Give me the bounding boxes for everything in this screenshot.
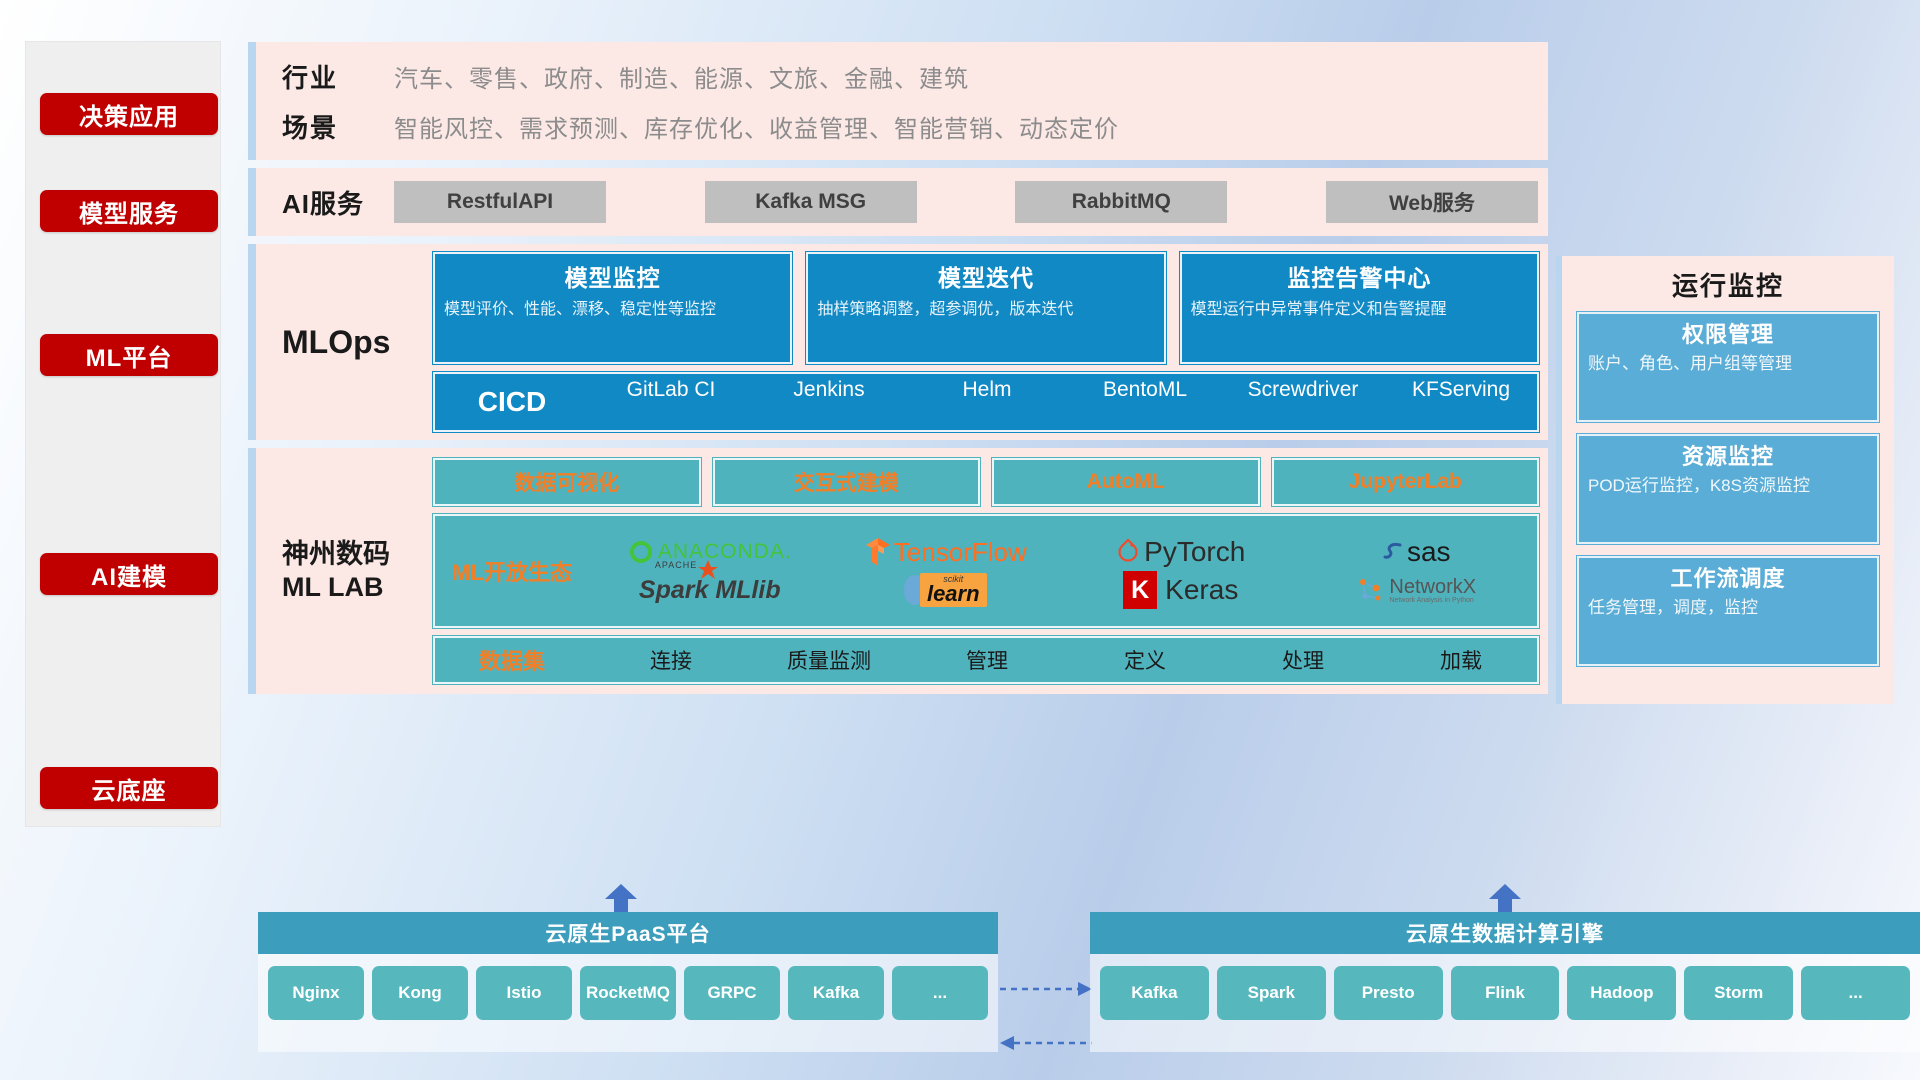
paas-chip-istio[interactable]: Istio xyxy=(476,966,572,1020)
card-title: 监控告警中心 xyxy=(1191,259,1528,293)
card-title: 模型监控 xyxy=(444,259,781,293)
engine-chip-hadoop[interactable]: Hadoop xyxy=(1567,966,1676,1020)
dataset-item-processing[interactable]: 处理 xyxy=(1224,645,1382,675)
compute-engine-chip-list: Kafka Spark Presto Flink Hadoop Storm ..… xyxy=(1090,954,1920,1032)
spark-mllib-logo: APACHE Spark MLlib xyxy=(639,576,781,605)
networkx-logo-text: NetworkX xyxy=(1389,577,1476,597)
paas-chip-grpc[interactable]: GRPC xyxy=(684,966,780,1020)
rail-label: ML平台 xyxy=(86,338,173,373)
lab-tool-data-visualization[interactable]: 数据可视化 xyxy=(432,457,702,507)
mlops-band: MLOps 模型监控 模型评价、性能、漂移、稳定性等监控 模型迭代 抽样策略调整… xyxy=(248,244,1548,440)
rail-item-decision-app[interactable]: 决策应用 xyxy=(40,93,218,135)
ml-open-ecosystem-label: ML开放生态 xyxy=(432,555,592,587)
spark-apache-sublabel: APACHE xyxy=(655,560,697,570)
rail-item-cloud-base[interactable]: 云底座 xyxy=(40,767,218,809)
tensorflow-logo-text: TensorFlow xyxy=(894,537,1027,568)
paas-chip-more[interactable]: ... xyxy=(892,966,988,1020)
mlops-content: 模型监控 模型评价、性能、漂移、稳定性等监控 模型迭代 抽样策略调整，超参调优，… xyxy=(432,251,1548,433)
mlops-card-model-monitoring[interactable]: 模型监控 模型评价、性能、漂移、稳定性等监控 xyxy=(432,251,793,365)
tensorflow-logo: TensorFlow xyxy=(864,537,1027,568)
rail-label: 模型服务 xyxy=(79,194,179,229)
card-title: 权限管理 xyxy=(1588,317,1868,349)
paas-chip-kong[interactable]: Kong xyxy=(372,966,468,1020)
ai-service-band: AI服务 RestfulAPI Kafka MSG RabbitMQ Web服务 xyxy=(248,168,1548,236)
cicd-item-kfserving[interactable]: KFServing xyxy=(1382,376,1540,428)
ai-service-label: AI服务 xyxy=(282,184,394,221)
ecosystem-logo-grid: ANACONDA. TensorFlow PyTorch xyxy=(592,533,1540,609)
cicd-item-helm[interactable]: Helm xyxy=(908,376,1066,428)
card-title: 工作流调度 xyxy=(1588,561,1868,593)
dashed-arrow-left-icon xyxy=(1000,1036,1092,1050)
mlops-card-alert-center[interactable]: 监控告警中心 模型运行中异常事件定义和告警提醒 xyxy=(1179,251,1540,365)
engine-chip-presto[interactable]: Presto xyxy=(1334,966,1443,1020)
service-chip-kafka-msg[interactable]: Kafka MSG xyxy=(705,181,917,223)
scenario-label: 场景 xyxy=(282,108,394,145)
card-title: 资源监控 xyxy=(1588,439,1868,471)
cloud-native-data-compute-engine: 云原生数据计算引擎 Kafka Spark Presto Flink Hadoo… xyxy=(1090,912,1920,1052)
service-chip-restfulapi[interactable]: RestfulAPI xyxy=(394,181,606,223)
ml-lab-label: 神州数码 ML LAB xyxy=(282,538,432,605)
card-desc: 模型运行中异常事件定义和告警提醒 xyxy=(1191,299,1528,321)
monitor-card-permission-management[interactable]: 权限管理 账户、角色、用户组等管理 xyxy=(1576,311,1880,423)
cicd-item-screwdriver[interactable]: Screwdriver xyxy=(1224,376,1382,428)
paas-chip-rocketmq[interactable]: RocketMQ xyxy=(580,966,676,1020)
ml-lab-content: 数据可视化 交互式建模 AutoML JupyterLab ML开放生态 ANA… xyxy=(432,457,1548,685)
engine-chip-kafka[interactable]: Kafka xyxy=(1100,966,1209,1020)
cicd-item-bentoml[interactable]: BentoML xyxy=(1066,376,1224,428)
ml-lab-band: 神州数码 ML LAB 数据可视化 交互式建模 AutoML JupyterLa… xyxy=(248,448,1548,694)
scikit-learn-logo-text: learn xyxy=(927,584,980,604)
runtime-monitoring-title: 运行监控 xyxy=(1576,266,1880,303)
runtime-monitoring-column: 运行监控 权限管理 账户、角色、用户组等管理 资源监控 POD运行监控，K8S资… xyxy=(1556,256,1894,704)
monitor-card-workflow-scheduling[interactable]: 工作流调度 任务管理，调度，监控 xyxy=(1576,555,1880,667)
lab-tool-jupyterlab[interactable]: JupyterLab xyxy=(1271,457,1541,507)
cicd-item-list: GitLab CI Jenkins Helm BentoML Screwdriv… xyxy=(592,376,1540,428)
card-title: 模型迭代 xyxy=(817,259,1154,293)
paas-chip-list: Nginx Kong Istio RocketMQ GRPC Kafka ... xyxy=(258,954,998,1032)
dashed-arrow-right-icon xyxy=(1000,982,1092,996)
cicd-title: CICD xyxy=(432,386,592,418)
networkx-logo: NetworkX Network Analysis in Python xyxy=(1356,576,1476,604)
card-desc: 抽样策略调整，超参调优，版本迭代 xyxy=(817,299,1154,321)
industry-row: 行业 汽车、零售、政府、制造、能源、文旅、金融、建筑 xyxy=(282,51,1548,101)
dataset-bar: 数据集 连接 质量监测 管理 定义 处理 加载 xyxy=(432,635,1540,685)
cicd-bar: CICD GitLab CI Jenkins Helm BentoML Scre… xyxy=(432,371,1540,433)
paas-chip-kafka[interactable]: Kafka xyxy=(788,966,884,1020)
dataset-item-quality-monitoring[interactable]: 质量监测 xyxy=(750,645,908,675)
lab-tool-interactive-modeling[interactable]: 交互式建模 xyxy=(712,457,982,507)
keras-logo-text: Keras xyxy=(1165,574,1238,606)
engine-chip-storm[interactable]: Storm xyxy=(1684,966,1793,1020)
dataset-item-connect[interactable]: 连接 xyxy=(592,645,750,675)
paas-chip-nginx[interactable]: Nginx xyxy=(268,966,364,1020)
mlops-card-list: 模型监控 模型评价、性能、漂移、稳定性等监控 模型迭代 抽样策略调整，超参调优，… xyxy=(432,251,1540,365)
lab-tool-automl[interactable]: AutoML xyxy=(991,457,1261,507)
networkx-sublabel: Network Analysis in Python xyxy=(1389,597,1476,604)
dataset-item-list: 连接 质量监测 管理 定义 处理 加载 xyxy=(592,645,1540,675)
dataset-item-management[interactable]: 管理 xyxy=(908,645,1066,675)
mlops-card-model-iteration[interactable]: 模型迭代 抽样策略调整，超参调优，版本迭代 xyxy=(805,251,1166,365)
industry-values: 汽车、零售、政府、制造、能源、文旅、金融、建筑 xyxy=(394,59,969,94)
rail-label: 决策应用 xyxy=(79,97,179,132)
engine-chip-spark[interactable]: Spark xyxy=(1217,966,1326,1020)
keras-logo: K Keras xyxy=(1123,571,1238,609)
architecture-main-stack: 行业 汽车、零售、政府、制造、能源、文旅、金融、建筑 场景 智能风控、需求预测、… xyxy=(248,42,1548,702)
decision-application-band: 行业 汽车、零售、政府、制造、能源、文旅、金融、建筑 场景 智能风控、需求预测、… xyxy=(248,42,1548,160)
paas-platform-title: 云原生PaaS平台 xyxy=(258,912,998,954)
industry-label: 行业 xyxy=(282,58,394,95)
dataset-item-definition[interactable]: 定义 xyxy=(1066,645,1224,675)
pytorch-logo: PyTorch xyxy=(1116,536,1245,568)
card-desc: 账户、角色、用户组等管理 xyxy=(1588,353,1868,376)
mlops-label: MLOps xyxy=(282,324,432,361)
sas-logo: sas xyxy=(1382,536,1451,568)
card-desc: 模型评价、性能、漂移、稳定性等监控 xyxy=(444,299,781,321)
spark-mllib-logo-text: Spark MLlib xyxy=(639,576,781,604)
ml-lab-label-line2: ML LAB xyxy=(282,571,432,604)
ml-lab-tool-list: 数据可视化 交互式建模 AutoML JupyterLab xyxy=(432,457,1540,507)
service-chip-web-service[interactable]: Web服务 xyxy=(1326,181,1538,223)
ai-service-chip-list: RestfulAPI Kafka MSG RabbitMQ Web服务 xyxy=(394,181,1548,223)
monitor-card-resource-monitoring[interactable]: 资源监控 POD运行监控，K8S资源监控 xyxy=(1576,433,1880,545)
card-desc: POD运行监控，K8S资源监控 xyxy=(1588,475,1868,498)
rail-item-ai-modeling[interactable]: AI建模 xyxy=(40,553,218,595)
ml-open-ecosystem-panel: ML开放生态 ANACONDA. TensorFlow xyxy=(432,513,1540,629)
scikit-learn-logo: scikit learn xyxy=(904,573,987,607)
cicd-item-gitlab-ci[interactable]: GitLab CI xyxy=(592,376,750,428)
scenario-values: 智能风控、需求预测、库存优化、收益管理、智能营销、动态定价 xyxy=(394,109,1119,144)
rail-item-ml-platform[interactable]: ML平台 xyxy=(40,334,218,376)
cicd-item-jenkins[interactable]: Jenkins xyxy=(750,376,908,428)
cloud-native-paas-platform: 云原生PaaS平台 Nginx Kong Istio RocketMQ GRPC… xyxy=(258,912,998,1052)
pytorch-logo-text: PyTorch xyxy=(1144,536,1245,568)
left-layer-rail: 决策应用 模型服务 ML平台 AI建模 云底座 xyxy=(26,42,220,826)
rail-label: 云底座 xyxy=(92,771,167,806)
dataset-item-loading[interactable]: 加载 xyxy=(1382,645,1540,675)
sas-logo-text: sas xyxy=(1407,536,1451,568)
dataset-label: 数据集 xyxy=(432,644,592,676)
compute-engine-title: 云原生数据计算引擎 xyxy=(1090,912,1920,954)
card-desc: 任务管理，调度，监控 xyxy=(1588,597,1868,620)
engine-chip-flink[interactable]: Flink xyxy=(1451,966,1560,1020)
keras-mark: K xyxy=(1123,571,1157,609)
scenario-row: 场景 智能风控、需求预测、库存优化、收益管理、智能营销、动态定价 xyxy=(282,101,1548,151)
service-chip-rabbitmq[interactable]: RabbitMQ xyxy=(1015,181,1227,223)
rail-label: AI建模 xyxy=(91,557,167,592)
engine-chip-more[interactable]: ... xyxy=(1801,966,1910,1020)
cloud-foundation-section: 云原生PaaS平台 Nginx Kong Istio RocketMQ GRPC… xyxy=(248,884,1920,1070)
ml-lab-label-line1: 神州数码 xyxy=(282,538,432,571)
rail-item-model-service[interactable]: 模型服务 xyxy=(40,190,218,232)
